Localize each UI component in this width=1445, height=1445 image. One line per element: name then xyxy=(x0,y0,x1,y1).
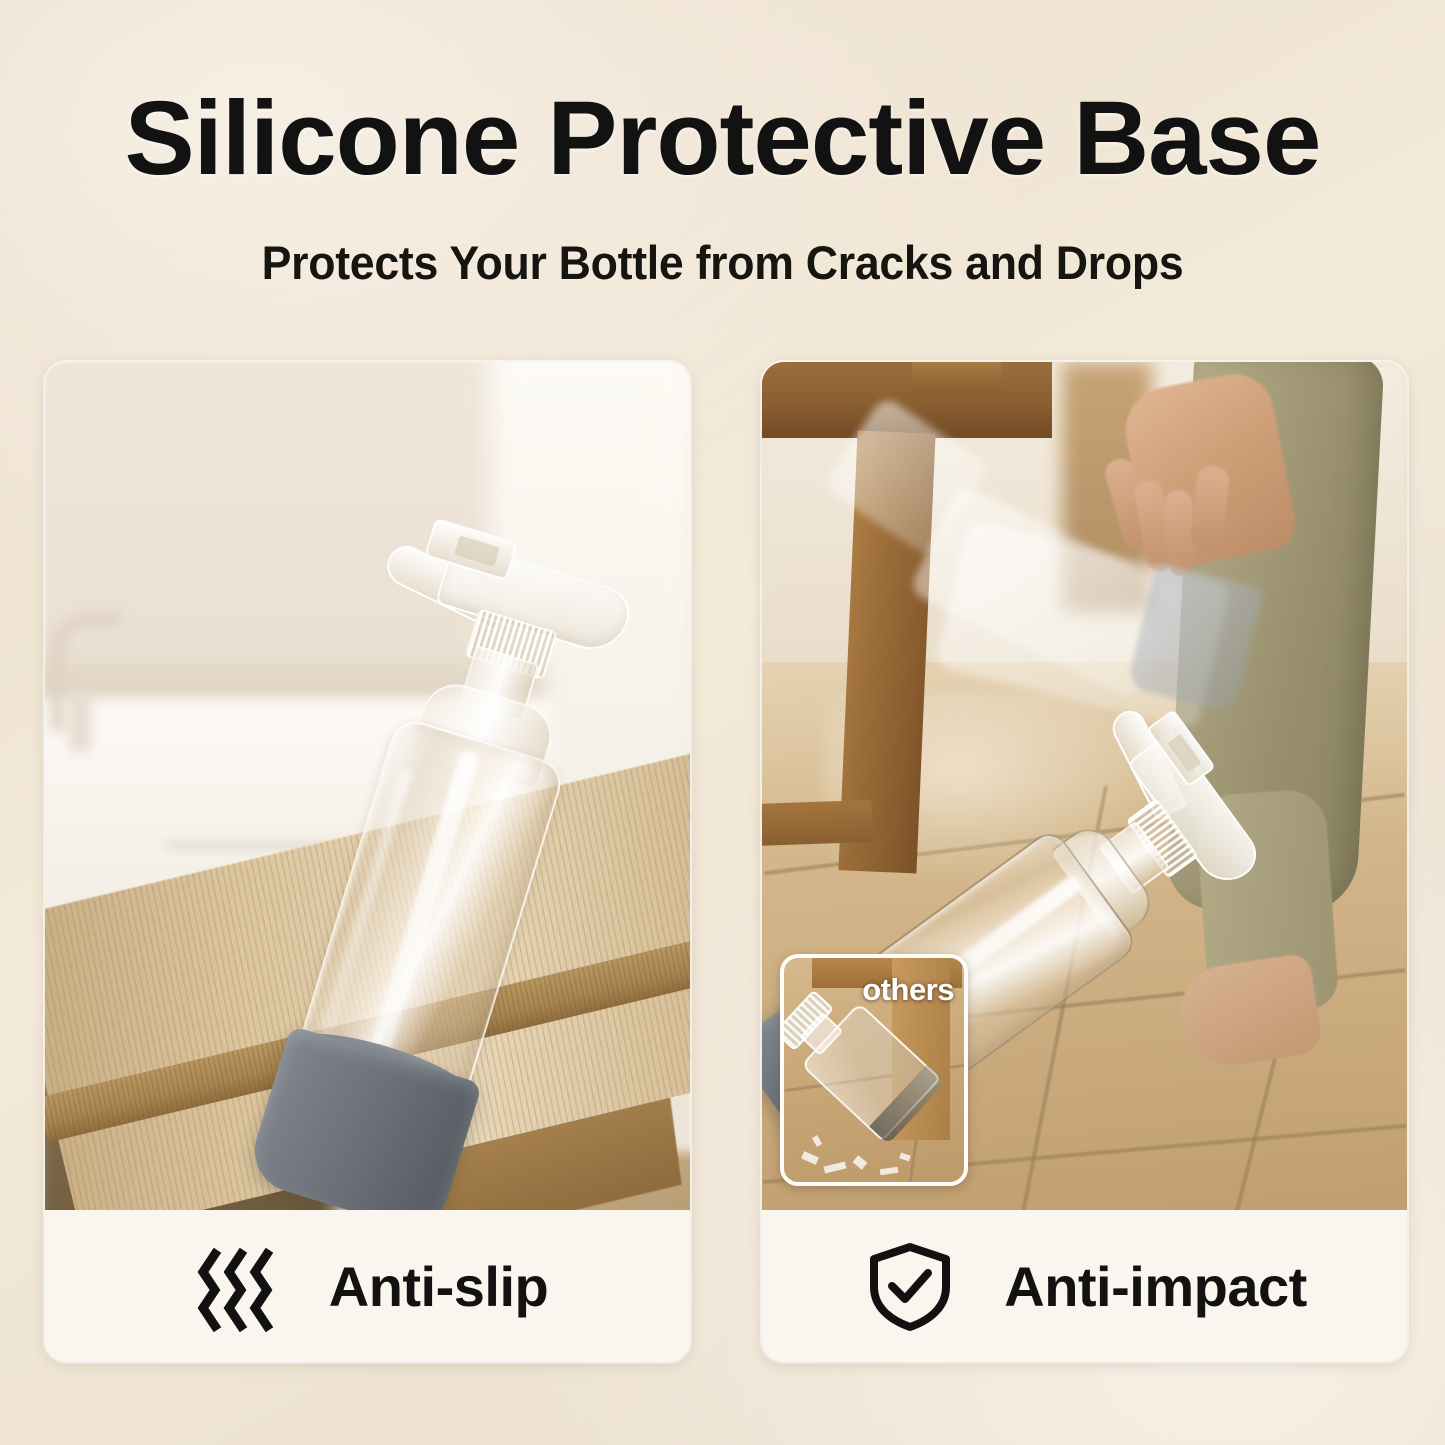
table-apron xyxy=(912,362,1002,392)
glass-shard xyxy=(823,1161,846,1173)
caption-label: Anti-slip xyxy=(329,1254,548,1319)
glass-shard xyxy=(812,1135,822,1147)
glass-shard xyxy=(853,1155,868,1170)
page-title: Silicone Protective Base xyxy=(0,0,1445,191)
nozzle-opening xyxy=(1167,734,1201,773)
anti-impact-photo: others xyxy=(762,362,1407,1210)
nozzle-opening xyxy=(454,535,500,566)
header: Silicone Protective Base Protects Your B… xyxy=(0,0,1445,290)
others-label: others xyxy=(862,972,954,1008)
anti-slip-photo xyxy=(45,362,690,1210)
others-comparison-inset: others xyxy=(780,954,968,1186)
feature-panel-anti-impact: others Anti-impact xyxy=(762,362,1407,1362)
caption-anti-slip: Anti-slip xyxy=(45,1210,690,1362)
glass-shard xyxy=(801,1151,819,1165)
caption-anti-impact: Anti-impact xyxy=(762,1210,1407,1362)
glass-shard xyxy=(899,1153,910,1162)
caption-label: Anti-impact xyxy=(1004,1254,1307,1319)
feature-panel-anti-slip: Anti-slip xyxy=(45,362,690,1362)
zigzag-waves-icon xyxy=(187,1238,283,1334)
table-stretcher xyxy=(762,800,873,846)
glass-shard xyxy=(880,1167,899,1175)
page-subtitle: Protects Your Bottle from Cracks and Dro… xyxy=(36,191,1409,290)
faucet-spout xyxy=(69,687,91,753)
shield-check-icon xyxy=(862,1238,958,1334)
feature-panels: Anti-slip xyxy=(0,362,1445,1362)
